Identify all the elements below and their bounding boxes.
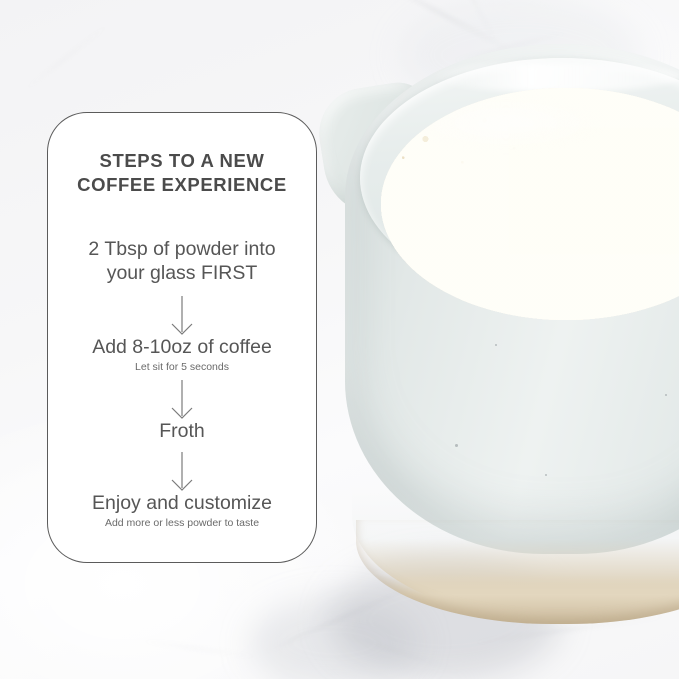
arrow-down-icon xyxy=(169,296,195,336)
step-4-sub: Add more or less powder to taste xyxy=(56,517,308,531)
promo-image-scene: STEPS TO A NEW COFFEE EXPERIENCE 2 Tbsp … xyxy=(0,0,679,679)
step-1-line-2: your glass FIRST xyxy=(56,262,308,286)
step-1: 2 Tbsp of powder into your glass FIRST xyxy=(56,238,308,286)
arrow-down-icon xyxy=(169,380,195,420)
step-1-line-1: 2 Tbsp of powder into xyxy=(56,238,308,262)
step-2-main: Add 8-10oz of coffee xyxy=(56,336,308,360)
coffee-froth-surface xyxy=(381,88,679,320)
arrow-down-icon xyxy=(169,452,195,492)
instruction-card: STEPS TO A NEW COFFEE EXPERIENCE 2 Tbsp … xyxy=(47,112,317,563)
step-4: Enjoy and customize Add more or less pow… xyxy=(56,492,308,530)
coffee-highlight xyxy=(411,96,601,150)
card-title-line-2: COFFEE EXPERIENCE xyxy=(69,173,295,197)
step-3-main: Froth xyxy=(56,420,308,444)
ceramic-speck xyxy=(495,344,497,346)
mug-shadow xyxy=(250,598,420,679)
ceramic-speck xyxy=(665,394,667,396)
step-3: Froth xyxy=(56,420,308,444)
ceramic-speck xyxy=(455,444,458,447)
step-4-main: Enjoy and customize xyxy=(56,492,308,516)
ceramic-speck xyxy=(545,474,547,476)
step-2: Add 8-10oz of coffee Let sit for 5 secon… xyxy=(56,336,308,374)
card-title: STEPS TO A NEW COFFEE EXPERIENCE xyxy=(69,149,295,196)
step-2-sub: Let sit for 5 seconds xyxy=(56,361,308,375)
card-title-line-1: STEPS TO A NEW xyxy=(69,149,295,173)
